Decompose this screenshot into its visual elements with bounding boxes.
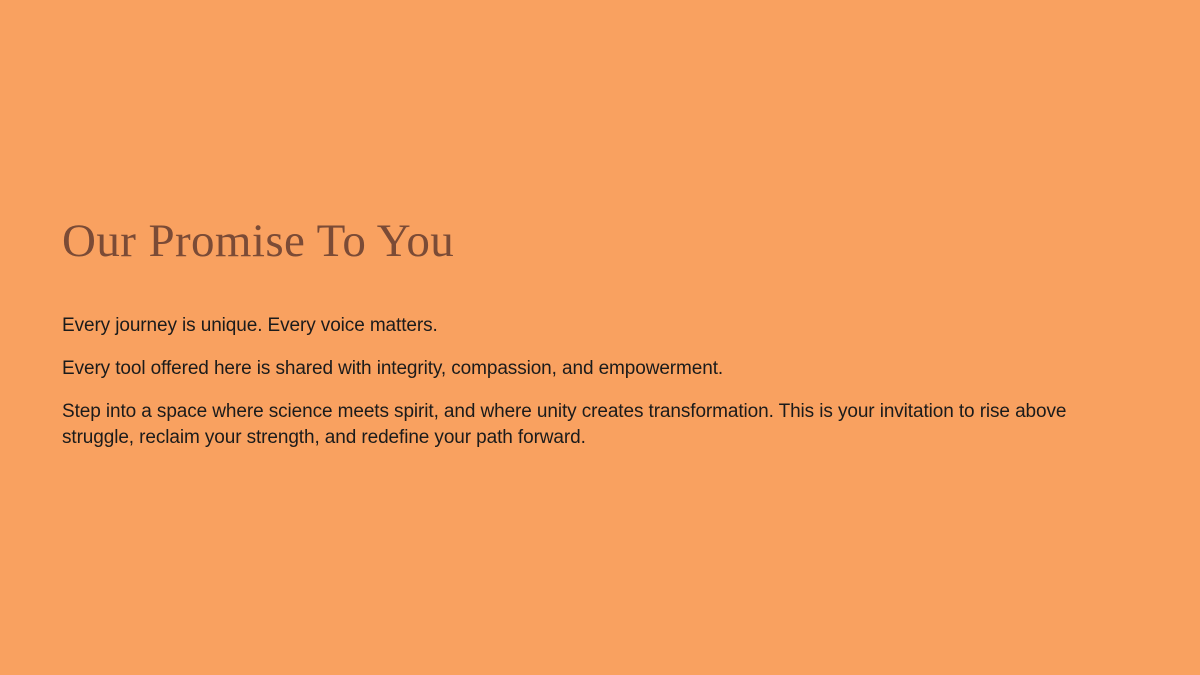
body-paragraph-2: Every tool offered here is shared with i… (62, 356, 1118, 382)
page-title: Our Promise To You (62, 214, 1118, 269)
slide-content: Our Promise To You Every journey is uniq… (62, 214, 1118, 451)
body-text-block: Every journey is unique. Every voice mat… (62, 313, 1118, 451)
slide-canvas: Our Promise To You Every journey is uniq… (0, 0, 1200, 675)
body-paragraph-3: Step into a space where science meets sp… (62, 399, 1118, 451)
body-paragraph-1: Every journey is unique. Every voice mat… (62, 313, 1118, 339)
